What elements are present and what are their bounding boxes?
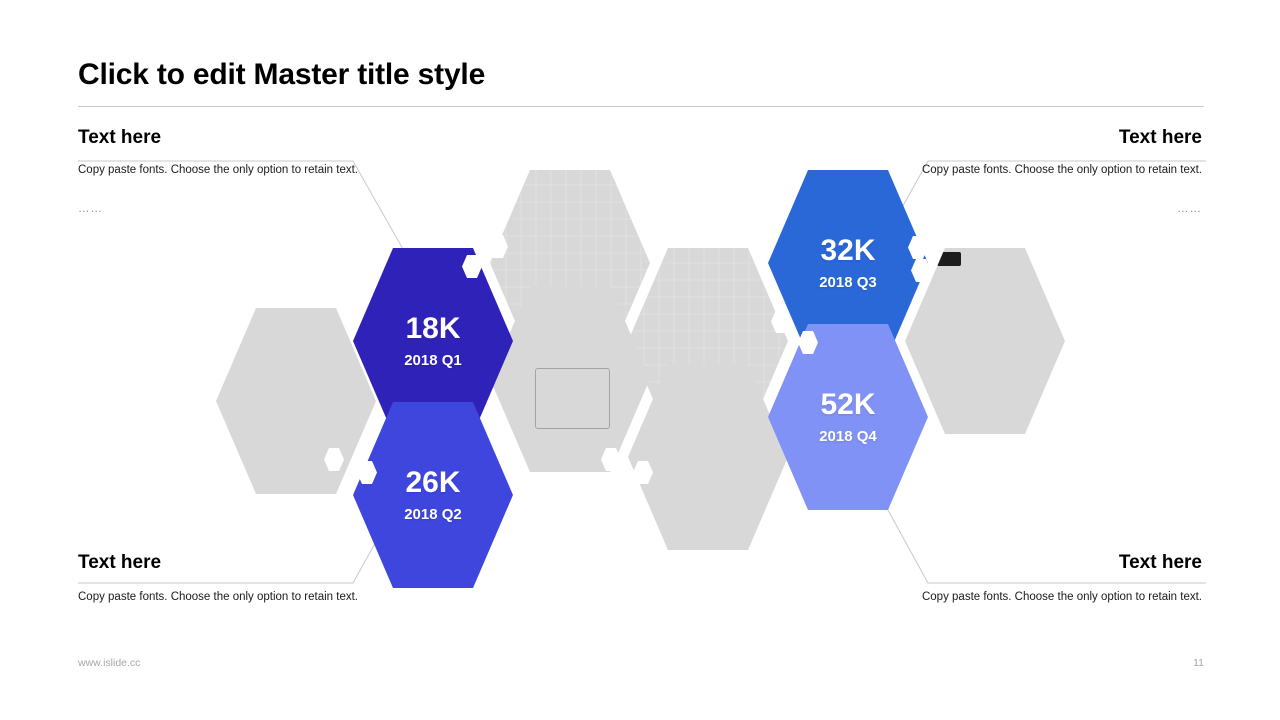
- data-hex-q4[interactable]: 52K 2018 Q4: [768, 324, 928, 510]
- data-hex-label: 2018 Q2: [404, 507, 462, 522]
- data-hex-label: 2018 Q1: [404, 353, 462, 368]
- data-hex-label: 2018 Q4: [819, 429, 877, 444]
- data-hex-value: 18K: [405, 314, 460, 344]
- data-hex-q2[interactable]: 26K 2018 Q2: [353, 402, 513, 588]
- blurred-gray-photo-hex: [905, 248, 1065, 434]
- slide-canvas: Click to edit Master title style Text he…: [0, 0, 1280, 720]
- data-hex-value: 52K: [820, 390, 875, 420]
- hexagon-cluster: 18K 2018 Q1 26K 2018 Q2 32K 2018 Q3 52K …: [0, 0, 1280, 720]
- data-hex-label: 2018 Q3: [819, 275, 877, 290]
- data-hex-value: 32K: [820, 236, 875, 266]
- data-hex-value: 26K: [405, 468, 460, 498]
- footer-page-number: 11: [1160, 657, 1204, 669]
- laptop-side-photo-hex: [216, 308, 376, 494]
- footer-site: www.islide.cc: [78, 657, 140, 669]
